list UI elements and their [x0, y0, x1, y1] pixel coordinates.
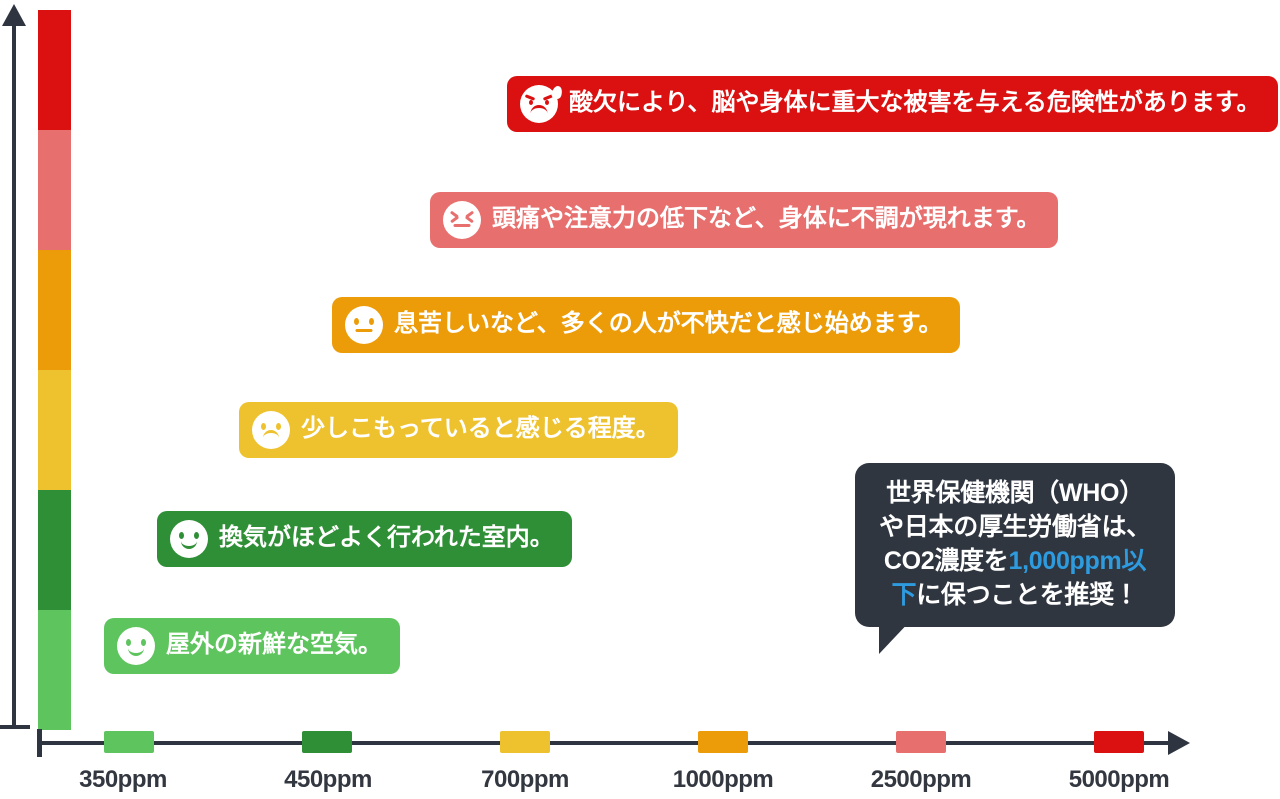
- callout-line-4-suffix: に保つことを推奨！: [916, 581, 1138, 609]
- who-recommendation-callout: 世界保健機関（WHO） や日本の厚生労働省は、 CO2濃度を1,000ppm以 …: [855, 463, 1175, 627]
- x-axis-line: [37, 741, 1172, 745]
- message-pill-5000ppm: 酸欠により、脳や身体に重大な被害を与える危険性があります。: [507, 76, 1278, 132]
- sad-face-icon: [252, 411, 290, 449]
- scale-segment-elevated: [38, 250, 71, 370]
- distressed-face-icon: [520, 85, 558, 123]
- co2-concentration-infographic: 350ppm 450ppm 700ppm 1000ppm 2500ppm 500…: [0, 0, 1280, 799]
- scale-segment-moderate: [38, 370, 71, 490]
- message-text-2500ppm: 頭痛や注意力の低下など、身体に不調が現れます。: [492, 207, 1040, 231]
- x-label-350ppm: 350ppm: [38, 766, 208, 794]
- callout-line-1: 世界保健機関（WHO）: [871, 476, 1159, 510]
- y-axis-line: [12, 22, 16, 728]
- callout-line-4-highlight: 下: [891, 581, 916, 609]
- callout-line-3-prefix: CO2濃度を: [884, 547, 1009, 575]
- callout-line-2: や日本の厚生労働省は、: [871, 510, 1159, 544]
- x-tick-5000ppm: [1094, 731, 1144, 753]
- x-tick-450ppm: [302, 731, 352, 753]
- vertical-severity-scale: [38, 10, 71, 730]
- callout-line-4: 下に保つことを推奨！: [871, 578, 1159, 612]
- message-text-700ppm: 少しこもっていると感じる程度。: [301, 417, 660, 441]
- x-tick-350ppm: [104, 731, 154, 753]
- scale-segment-good: [38, 490, 71, 610]
- message-pill-1000ppm: 息苦しいなど、多くの人が不快だと感じ始めます。: [332, 297, 960, 353]
- message-text-1000ppm: 息苦しいなど、多くの人が不快だと感じ始めます。: [394, 312, 942, 336]
- x-axis-arrow-icon: [1168, 731, 1190, 755]
- squinting-face-icon: [443, 201, 481, 239]
- message-pill-700ppm: 少しこもっていると感じる程度。: [239, 402, 678, 458]
- smile-face-icon: [170, 520, 208, 558]
- happy-face-icon: [117, 627, 155, 665]
- neutral-face-icon: [345, 306, 383, 344]
- scale-segment-high: [38, 130, 71, 250]
- message-text-5000ppm: 酸欠により、脳や身体に重大な被害を与える危険性があります。: [569, 91, 1260, 115]
- message-pill-2500ppm: 頭痛や注意力の低下など、身体に不調が現れます。: [430, 192, 1058, 248]
- x-label-1000ppm: 1000ppm: [638, 766, 808, 794]
- scale-segment-critical: [38, 10, 71, 130]
- message-pill-350ppm: 屋外の新鮮な空気。: [104, 618, 400, 674]
- y-axis-baseline-tick: [0, 725, 30, 729]
- x-label-450ppm: 450ppm: [243, 766, 413, 794]
- message-text-450ppm: 換気がほどよく行われた室内。: [219, 526, 554, 550]
- message-pill-450ppm: 換気がほどよく行われた室内。: [157, 511, 572, 567]
- x-label-2500ppm: 2500ppm: [836, 766, 1006, 794]
- x-tick-1000ppm: [698, 731, 748, 753]
- message-text-350ppm: 屋外の新鮮な空気。: [166, 633, 382, 657]
- scale-segment-fresh: [38, 610, 71, 730]
- x-label-700ppm: 700ppm: [440, 766, 610, 794]
- callout-line-3: CO2濃度を1,000ppm以: [871, 544, 1159, 578]
- x-label-5000ppm: 5000ppm: [1034, 766, 1204, 794]
- x-tick-2500ppm: [896, 731, 946, 753]
- x-tick-700ppm: [500, 731, 550, 753]
- callout-line-3-highlight: 1,000ppm以: [1008, 547, 1146, 575]
